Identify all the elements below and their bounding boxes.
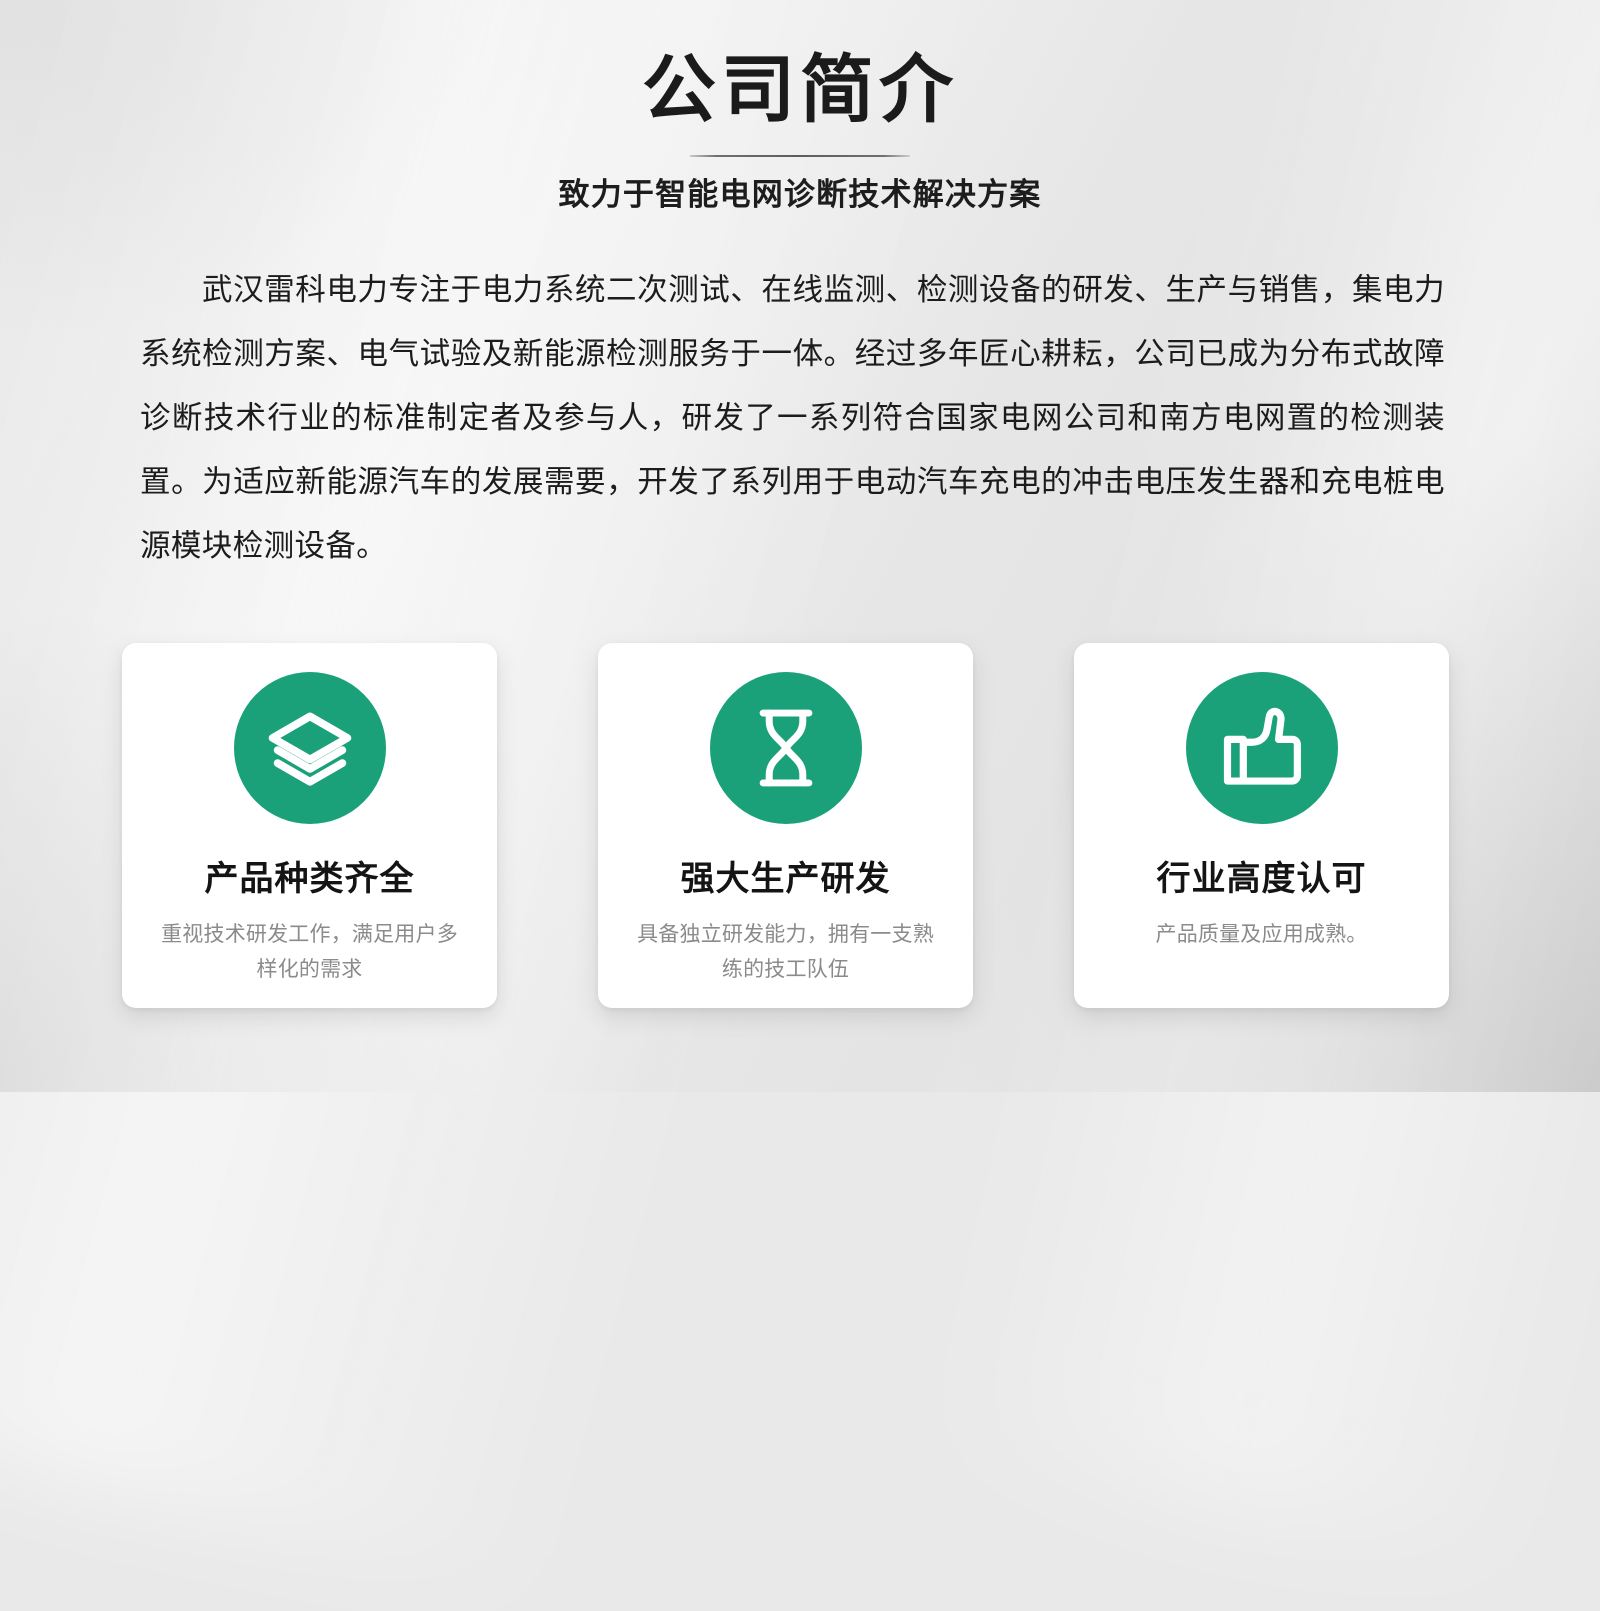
feature-card-industry-recognition[interactable]: 行业高度认可 产品质量及应用成熟。 xyxy=(1074,643,1449,1008)
page-subtitle: 致力于智能电网诊断技术解决方案 xyxy=(0,157,1600,214)
feature-card-product-range[interactable]: 产品种类齐全 重视技术研发工作，满足用户多样化的需求 xyxy=(122,643,497,1008)
company-intro-paragraph: 武汉雷科电力专注于电力系统二次测试、在线监测、检测设备的研发、生产与销售，集电力… xyxy=(140,258,1445,578)
thumbs-up-icon xyxy=(1216,702,1308,794)
company-profile-page: 公司简介 致力于智能电网诊断技术解决方案 武汉雷科电力专注于电力系统二次测试、在… xyxy=(0,0,1600,1092)
icon-badge xyxy=(234,672,386,824)
page-title: 公司简介 xyxy=(0,0,1600,136)
feature-card-title: 产品种类齐全 xyxy=(205,824,415,901)
section-header: 公司简介 致力于智能电网诊断技术解决方案 xyxy=(0,0,1600,214)
icon-badge xyxy=(1186,672,1338,824)
icon-badge xyxy=(710,672,862,824)
feature-card-rnd-capacity[interactable]: 强大生产研发 具备独立研发能力，拥有一支熟练的技工队伍 xyxy=(598,643,973,1008)
feature-card-title: 强大生产研发 xyxy=(681,824,891,901)
feature-card-title: 行业高度认可 xyxy=(1157,824,1367,901)
hourglass-icon xyxy=(743,705,829,791)
feature-card-description: 具备独立研发能力，拥有一支熟练的技工队伍 xyxy=(636,901,936,987)
feature-card-description: 产品质量及应用成熟。 xyxy=(1112,901,1412,952)
layers-icon xyxy=(264,702,356,794)
feature-card-list: 产品种类齐全 重视技术研发工作，满足用户多样化的需求 强大生产研发 xyxy=(122,643,1449,1008)
feature-card-description: 重视技术研发工作，满足用户多样化的需求 xyxy=(160,901,460,987)
